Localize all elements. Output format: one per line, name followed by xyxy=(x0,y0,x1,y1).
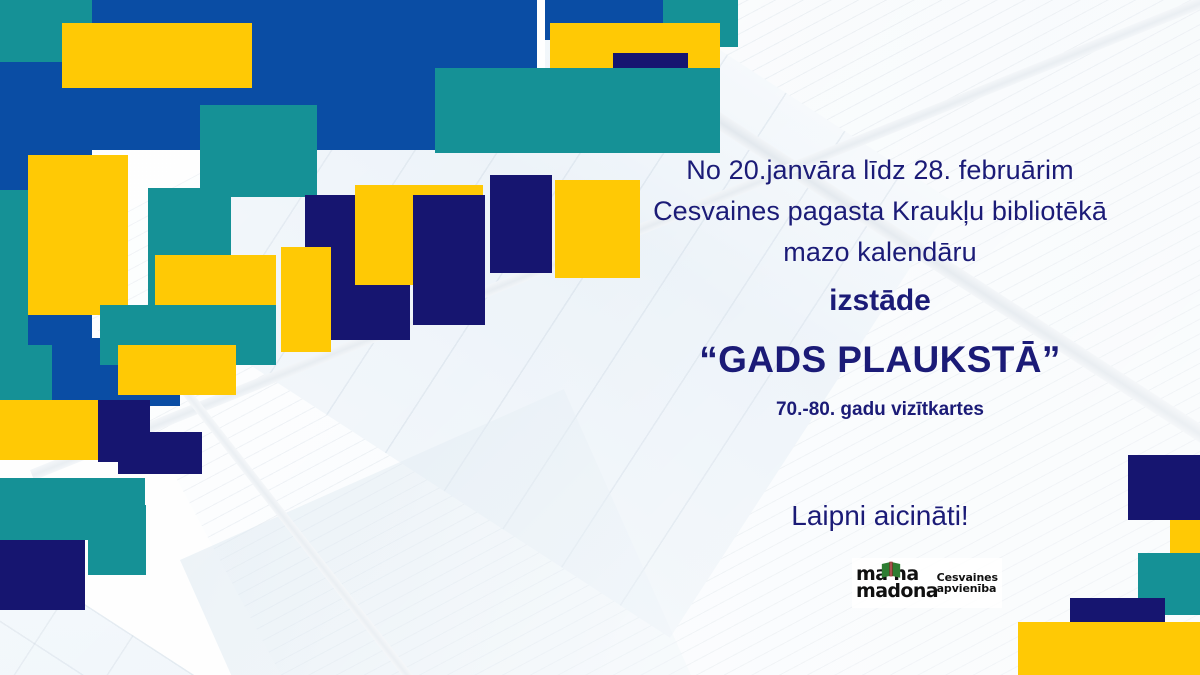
mosaic-block-yellow-36 xyxy=(1170,520,1200,555)
exhibition-subtitle: 70.-80. gadu vizītkartes xyxy=(600,391,1160,429)
mosaic-block-navy-23 xyxy=(490,175,552,273)
mosaic-block-teal-12 xyxy=(435,68,720,153)
mosaic-block-yellow-39 xyxy=(1018,622,1200,675)
mosaic-block-navy-33 xyxy=(0,540,85,610)
logo-org-line-2: apvienība xyxy=(937,583,998,594)
mosaic-block-navy-30 xyxy=(118,432,202,474)
poster-canvas: No 20.janvāra līdz 28. februārim Cesvain… xyxy=(0,0,1200,675)
announcement-line-3: mazo kalendāru xyxy=(600,232,1160,273)
mosaic-block-yellow-14 xyxy=(28,155,128,315)
open-book-icon xyxy=(880,560,902,579)
mosaic-block-teal-17 xyxy=(200,105,317,197)
mosaic-block-teal-13 xyxy=(0,190,28,350)
exhibition-title: “GADS PLAUKSTĀ” xyxy=(600,329,1160,391)
announcement-line-2: Cesvaines pagasta Kraukļu bibliotēkā xyxy=(600,191,1160,232)
mosaic-block-yellow-6 xyxy=(210,23,252,88)
mosaic-block-teal-34 xyxy=(88,505,146,575)
logo-brand-line-2: madona xyxy=(856,580,938,602)
announcement-line-1: No 20.janvāra līdz 28. februārim xyxy=(600,150,1160,191)
invitation-text: Laipni aicināti! xyxy=(600,500,1160,532)
mosaic-block-navy-22 xyxy=(413,195,485,325)
logo-wordmark: ma na madona xyxy=(856,563,933,603)
logo-org-name: Cesvaines apvienība xyxy=(937,572,998,594)
announcement-text-block: No 20.janvāra līdz 28. februārim Cesvain… xyxy=(600,150,1160,429)
mosaic-block-yellow-20 xyxy=(281,247,331,352)
mosaic-block-yellow-28 xyxy=(0,400,98,460)
event-type-label: izstāde xyxy=(600,273,1160,329)
mosaic-block-yellow-5 xyxy=(62,23,95,88)
madona-logo: ma na madona Cesvaines apvienība xyxy=(852,558,1002,608)
mosaic-block-white-9 xyxy=(537,0,545,70)
mosaic-block-yellow-31 xyxy=(118,345,236,395)
